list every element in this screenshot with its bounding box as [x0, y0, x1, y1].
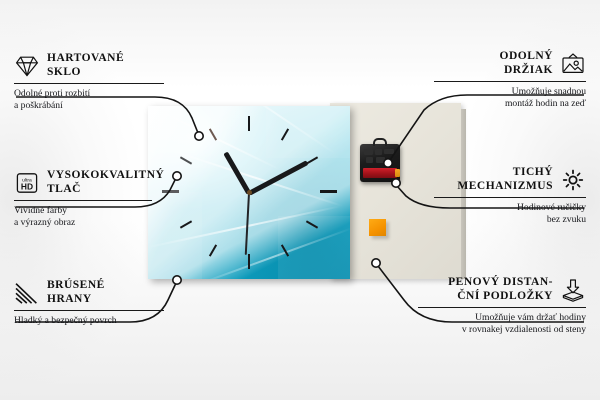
hour-marker — [248, 254, 250, 269]
mechanism-housing-detail — [364, 149, 396, 163]
gear-icon — [560, 168, 586, 192]
feature-description: Odolné proti rozbití a poškrábání — [14, 88, 174, 112]
feature-heading: BRÚSENÉ HRANY — [14, 279, 166, 306]
divider — [434, 197, 586, 198]
clock-mechanism — [360, 144, 400, 182]
feature-title: ODOLNÝ DRŽIAK — [500, 50, 553, 77]
infographic-stage: HARTOVANÉ SKLO Odolné proti rozbití a po… — [0, 0, 600, 400]
feature-heading: ODOLNÝ DRŽIAK — [434, 50, 586, 77]
ultra-hd-icon: ultra HD — [14, 171, 40, 195]
picture-hanger-icon — [560, 52, 586, 76]
feature-high-quality-print: ultra HD VYSOKOKVALITNÝ TLAČ Vividné far… — [14, 169, 156, 230]
feature-heading: PENOVÝ DISTAN- ČNÍ PODLOŽKY — [418, 276, 586, 303]
feature-tempered-glass: HARTOVANÉ SKLO Odolné proti rozbití a po… — [14, 52, 174, 113]
divider — [14, 200, 152, 201]
feature-silent-mechanism: TICHÝ MECHANIZMUS Hodinové ručičky bez z… — [434, 166, 586, 227]
feature-title: VYSOKOKVALITNÝ TLAČ — [47, 169, 164, 196]
feature-title: TICHÝ MECHANIZMUS — [457, 166, 553, 193]
product-photo — [148, 106, 461, 279]
feature-heading: ultra HD VYSOKOKVALITNÝ TLAČ — [14, 169, 156, 196]
mechanism-hook — [373, 138, 387, 146]
feature-foam-spacers: PENOVÝ DISTAN- ČNÍ PODLOŽKY Umožňuje vám… — [418, 276, 586, 337]
divider — [418, 307, 586, 308]
diamond-icon — [14, 54, 40, 78]
svg-text:HD: HD — [21, 181, 33, 191]
feature-description: Hladký a bezpečný povrch — [14, 315, 166, 327]
foam-spacer-pad — [369, 219, 386, 236]
feature-ground-edges: BRÚSENÉ HRANY Hladký a bezpečný povrch — [14, 279, 166, 327]
feature-title: BRÚSENÉ HRANY — [47, 279, 105, 306]
clock-center-pin — [247, 190, 252, 195]
wall-clock-face — [148, 106, 350, 279]
hour-marker — [162, 190, 179, 193]
divider — [14, 310, 164, 311]
hour-marker — [320, 190, 337, 193]
foam-spacer-icon — [560, 278, 586, 302]
feature-description: Umožňuje vám držať hodiny v rovnakej vzd… — [418, 312, 586, 336]
feature-description: Umožňuje snadnou montáž hodin na zeď — [434, 86, 586, 110]
feature-title: HARTOVANÉ SKLO — [47, 52, 124, 79]
battery — [363, 168, 397, 178]
feature-heading: HARTOVANÉ SKLO — [14, 52, 174, 79]
hour-marker — [248, 116, 250, 131]
feature-heading: TICHÝ MECHANIZMUS — [434, 166, 586, 193]
divider — [14, 83, 164, 84]
feature-durable-hanger: ODOLNÝ DRŽIAK Umožňuje snadnou montáž ho… — [434, 50, 586, 111]
feature-description: Vividné farby a výrazný obraz — [14, 205, 156, 229]
divider — [434, 81, 586, 82]
feature-description: Hodinové ručičky bez zvuku — [434, 202, 586, 226]
feature-title: PENOVÝ DISTAN- ČNÍ PODLOŽKY — [448, 276, 553, 303]
ground-edges-icon — [14, 281, 40, 305]
